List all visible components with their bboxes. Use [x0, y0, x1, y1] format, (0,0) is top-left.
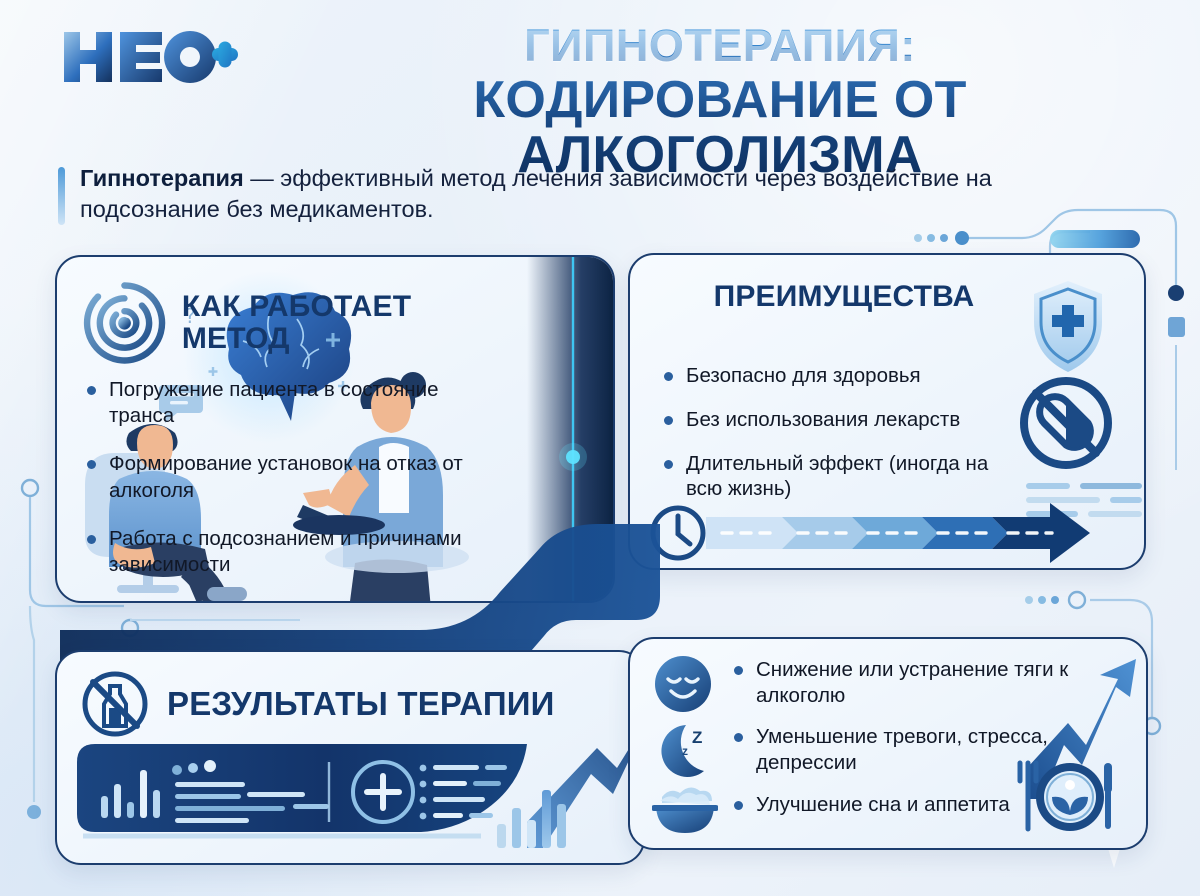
outcomes-items-list: Снижение или устранение тяги к алкоголю …	[734, 657, 1094, 833]
logo-icon	[60, 28, 240, 86]
lead-accent-bar	[58, 167, 65, 225]
infographic-root: ГИПНОТЕРАПИЯ: КОДИРОВАНИЕ ОТ АЛКОГОЛИЗМА…	[0, 0, 1200, 896]
text-lines-decoration	[1026, 483, 1142, 517]
brand-logo[interactable]	[60, 28, 240, 86]
title-line-1: ГИПНОТЕРАПИЯ:	[270, 22, 1170, 69]
list-item: Уменьшение тревоги, стресса, депрессии	[734, 724, 1094, 775]
list-item: Снижение или устранение тяги к алкоголю	[734, 657, 1094, 708]
food-bowl-icon	[652, 785, 714, 847]
card-how-method-works[interactable]: ?	[55, 255, 615, 603]
results-card-title: РЕЗУЛЬТАТЫ ТЕРАПИИ	[167, 686, 555, 722]
calm-face-icon	[652, 653, 714, 715]
no-pill-icon	[1024, 381, 1108, 465]
advantages-card-title: ПРЕИМУЩЕСТВА	[630, 281, 1144, 313]
method-items-list: Погружение пациента в состояние транса Ф…	[87, 377, 487, 600]
spiral-icon	[83, 281, 166, 365]
page-title: ГИПНОТЕРАПИЯ: КОДИРОВАНИЕ ОТ АЛКОГОЛИЗМА	[270, 22, 1170, 182]
list-item: Погружение пациента в состояние транса	[87, 377, 487, 429]
lead-paragraph: Гипнотерапия — эффективный метод лечения…	[58, 163, 1088, 226]
list-item: Длительный эффект (иногда на всю жизнь)	[664, 451, 994, 503]
lead-bold-term: Гипнотерапия	[80, 165, 244, 191]
list-item: Без использования лекарств	[664, 407, 994, 433]
sleep-moon-icon: Z z	[652, 719, 714, 781]
svg-text:z: z	[682, 744, 688, 758]
advantages-items-list: Безопасно для здоровья Без использования…	[664, 363, 994, 520]
panel-text-lines	[172, 760, 329, 823]
method-card-header: КАК РАБОТАЕТ МЕТОД	[83, 281, 523, 365]
results-card-header: РЕЗУЛЬТАТЫ ТЕРАПИИ	[79, 668, 555, 740]
card-advantages[interactable]: ПРЕИМУЩЕСТВА	[628, 253, 1146, 570]
plus-circle-icon	[353, 762, 413, 822]
panel-list	[420, 765, 507, 820]
list-item: Улучшение сна и аппетита	[734, 792, 1094, 818]
panel-bar-chart	[101, 770, 160, 818]
list-item: Работа с подсознанием и причинами зависи…	[87, 526, 487, 578]
outer-bar-chart	[497, 790, 566, 848]
list-item: Формирование установок на отказ от алког…	[87, 451, 487, 503]
card-therapy-results[interactable]: РЕЗУЛЬТАТЫ ТЕРАПИИ	[55, 650, 645, 865]
no-alcohol-icon	[79, 668, 151, 740]
card-outcomes[interactable]: Z z Снижение или устранение тяги к алког…	[628, 637, 1148, 850]
method-card-title: КАК РАБОТАЕТ МЕТОД	[182, 291, 523, 356]
svg-text:Z: Z	[692, 728, 702, 747]
list-item: Безопасно для здоровья	[664, 363, 994, 389]
